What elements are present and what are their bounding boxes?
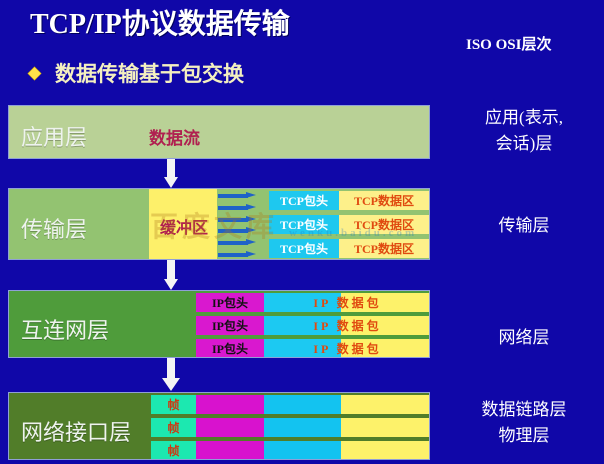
ip-data-cell: IP 数据包 (264, 339, 430, 358)
ip-data-label: IP 数据包 (264, 339, 430, 358)
tcp-packet-row: TCP包头 TCP数据区 (269, 239, 429, 258)
frame-row: 帧 (151, 441, 430, 460)
frame-magenta-segment (196, 441, 264, 460)
ip-header-cell: IP包头 (196, 339, 264, 358)
data-stream-annotation: 数据流 (149, 124, 200, 149)
tcp-data-cell: TCP数据区 (339, 191, 429, 210)
ip-data-label: IP 数据包 (264, 293, 430, 312)
osi-label-physical: 物理层 (444, 423, 604, 449)
layer-box-transport: 传输层 缓冲区 TCP包头 TCP数据区 TCP包头 TCP数据区 TCP包头 … (8, 188, 430, 260)
flow-arrow-icon (218, 204, 258, 211)
frame-cell: 帧 (151, 418, 196, 437)
ip-data-label: IP 数据包 (264, 316, 430, 335)
slide-canvas: TCP/IP协议数据传输 ISO OSI层次 数据传输基于包交换 应用层 数据流… (0, 0, 604, 464)
tcp-header-cell: TCP包头 (269, 239, 339, 258)
ip-packet-row: IP包头 IP 数据包 (196, 316, 430, 335)
packet-flow-arrows (218, 192, 258, 258)
tcp-packet-row: TCP包头 TCP数据区 (269, 191, 429, 210)
tcp-data-cell: TCP数据区 (339, 239, 429, 258)
osi-column-title: ISO OSI层次 (466, 33, 551, 54)
frame-yellow-segment (341, 395, 430, 414)
osi-label-application-line1: 应用(表示, (444, 105, 604, 131)
ip-packet-row: IP包头 IP 数据包 (196, 293, 430, 312)
frame-row: 帧 (151, 418, 430, 437)
frame-row: 帧 (151, 395, 430, 414)
flow-arrow-icon (218, 192, 258, 199)
frame-cell: 帧 (151, 441, 196, 460)
buffer-label: 缓冲区 (154, 214, 214, 238)
layer-label-transport: 传输层 (21, 212, 87, 244)
layer-box-application: 应用层 数据流 (8, 105, 430, 159)
layer-box-internet: 互连网层 IP包头 IP 数据包 IP包头 IP 数据包 IP包头 IP 数据包 (8, 290, 430, 358)
frame-yellow-segment (341, 418, 430, 437)
tcp-packet-row: TCP包头 TCP数据区 (269, 215, 429, 234)
osi-label-datalink: 数据链路层 (444, 397, 604, 423)
frame-cyan-segment (264, 441, 341, 460)
osi-label-network: 网络层 (444, 325, 604, 351)
flow-arrow-internet-to-network (164, 358, 178, 392)
layer-box-network-interface: 网络接口层 帧 帧 帧 (8, 392, 430, 460)
flow-arrow-icon (218, 216, 258, 223)
tcp-data-cell: TCP数据区 (339, 215, 429, 234)
frame-magenta-segment (196, 395, 264, 414)
ip-data-cell: IP 数据包 (264, 316, 430, 335)
layer-label-internet: 互连网层 (21, 313, 109, 345)
frame-cyan-segment (264, 418, 341, 437)
ip-packet-row: IP包头 IP 数据包 (196, 339, 430, 358)
osi-label-application-line2: 会话)层 (444, 131, 604, 157)
frame-magenta-segment (196, 418, 264, 437)
ip-header-cell: IP包头 (196, 316, 264, 335)
frame-cyan-segment (264, 395, 341, 414)
bullet-text: 数据传输基于包交换 (55, 58, 244, 88)
osi-label-transport: 传输层 (444, 213, 604, 239)
frame-yellow-segment (341, 441, 430, 460)
tcp-header-cell: TCP包头 (269, 191, 339, 210)
layer-label-network-interface: 网络接口层 (21, 415, 131, 447)
flow-arrow-app-to-transport (164, 159, 178, 188)
page-title: TCP/IP协议数据传输 (30, 2, 290, 42)
flow-arrow-icon (218, 227, 258, 234)
ip-data-cell: IP 数据包 (264, 293, 430, 312)
flow-arrow-icon (218, 251, 258, 258)
ip-header-cell: IP包头 (196, 293, 264, 312)
diamond-bullet-icon (28, 67, 41, 80)
flow-arrow-icon (218, 239, 258, 246)
osi-label-application: 应用(表示, 会话)层 (444, 105, 604, 157)
layer-label-application: 应用层 (21, 120, 87, 152)
tcp-header-cell: TCP包头 (269, 215, 339, 234)
frame-cell: 帧 (151, 395, 196, 414)
bullet-row: 数据传输基于包交换 (30, 58, 244, 88)
flow-arrow-transport-to-internet (164, 260, 178, 290)
